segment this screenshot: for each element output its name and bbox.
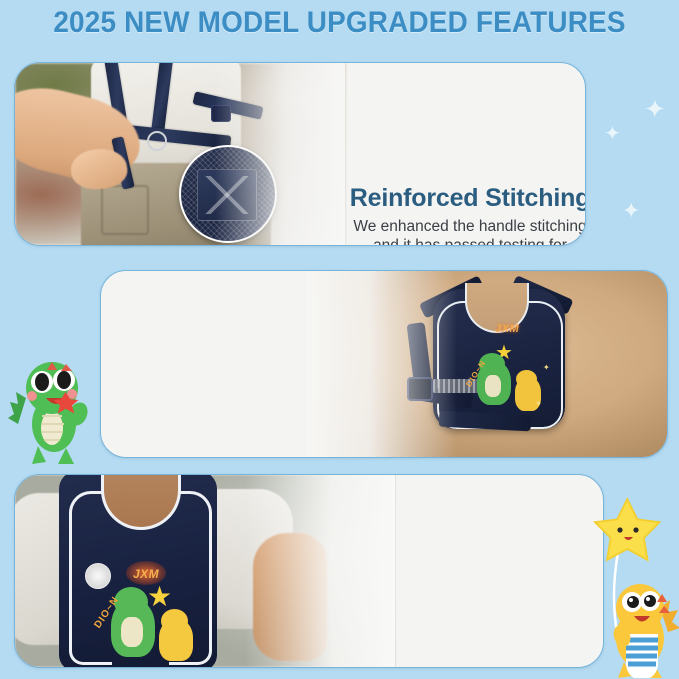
decor-star-icon: ✦ xyxy=(644,96,666,122)
green-dinosaur-print xyxy=(111,599,155,657)
brand-logo: JXM xyxy=(133,567,159,581)
yellow-dinosaur-with-balloon-icon xyxy=(588,488,679,678)
sparkle-icon: ✦ xyxy=(543,363,550,372)
feature-photo-reinforced-stitching xyxy=(15,63,345,245)
page-title: 2025 NEW MODEL UPGRADED FEATURES xyxy=(24,6,655,40)
sparkle-icon: ✦ xyxy=(535,399,542,408)
feature-text-reinforced-stitching: Reinforced Stitching We enhanced the han… xyxy=(345,185,586,246)
worn-harness-vest: JXM ★ DIO~N xyxy=(59,474,217,668)
photo-fade-overlay xyxy=(215,63,345,245)
feature-photo-enhanced-reflectivity: JXM ★ DIO~N xyxy=(15,475,395,667)
decor-star-icon: ✦ xyxy=(622,200,640,222)
yellow-dinosaur-print xyxy=(159,619,193,661)
feature-card-enhanced-reflectivity: JXM ★ DIO~N Enhanced reflectivity Increa… xyxy=(14,474,604,668)
brand-logo: JXM xyxy=(495,323,519,335)
feature-description-line: and it has passed testing for durability xyxy=(345,236,586,246)
feature-description-line: We enhanced the handle stitching xyxy=(345,217,586,237)
decor-star-icon: ✦ xyxy=(604,124,621,144)
photo-fade-overlay xyxy=(245,475,395,667)
feature-card-improved-fabric: JXM ★ DIO~N ✦ ✦ Improved fabric Sturdier… xyxy=(100,270,668,458)
green-dinosaur-mascot-icon xyxy=(8,350,100,470)
feature-card-reinforced-stitching: Reinforced Stitching We enhanced the han… xyxy=(14,62,586,246)
feature-photo-improved-fabric: JXM ★ DIO~N ✦ ✦ xyxy=(307,271,667,457)
feature-title: Reinforced Stitching xyxy=(345,185,586,213)
photo-fade-overlay xyxy=(307,271,457,457)
harness-d-ring xyxy=(147,131,167,151)
star-print-icon: ★ xyxy=(147,583,172,611)
reflective-badge xyxy=(85,563,111,589)
